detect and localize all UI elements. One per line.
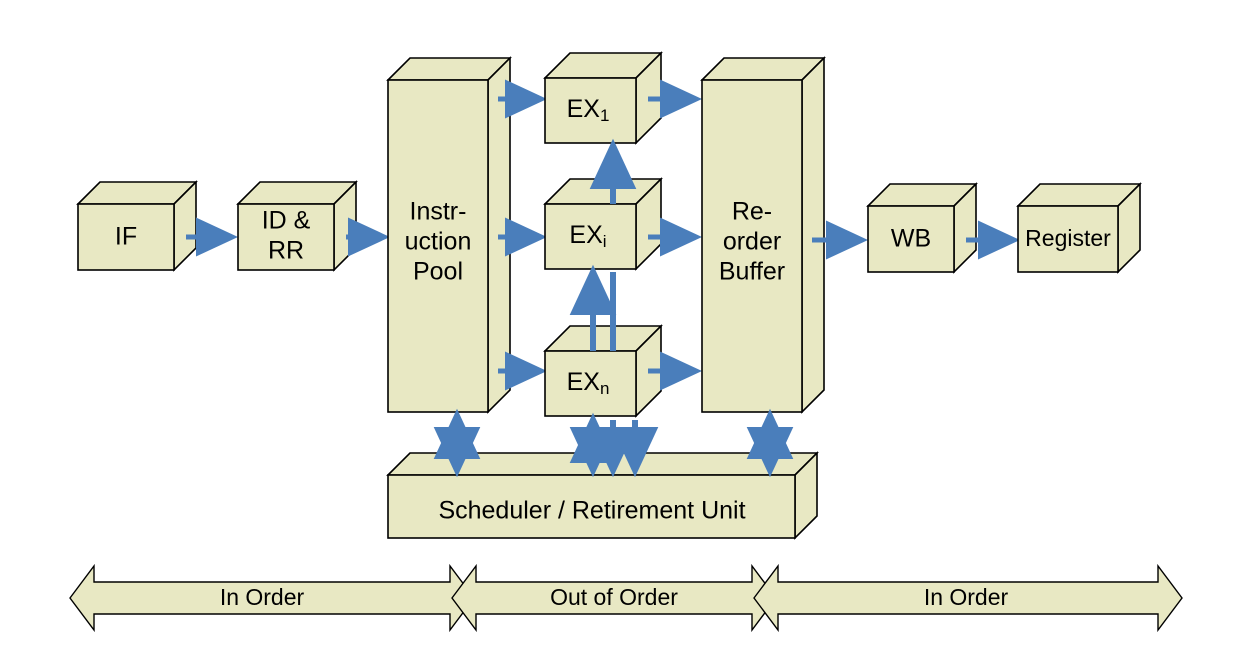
block-reorder-buffer[interactable]: Re- order Buffer <box>702 58 824 412</box>
exi-label: EXi <box>569 221 606 252</box>
register-label: Register <box>1025 225 1111 251</box>
block-instruction-pool[interactable]: Instr- uction Pool <box>388 58 510 412</box>
scheduler-top-face <box>388 453 817 475</box>
block-ex1[interactable]: EX1 <box>545 53 661 143</box>
pool-label-line1: Instr- <box>410 198 467 226</box>
banner-in-order-left: In Order <box>70 566 474 630</box>
idrr-label-line2: RR <box>268 237 304 265</box>
banner-right-label: In Order <box>924 584 1009 610</box>
banner-middle-label: Out of Order <box>550 584 678 610</box>
if-label: IF <box>115 223 137 251</box>
wb-label: WB <box>891 225 931 253</box>
rob-label-line2: order <box>723 228 781 256</box>
rob-label-line3: Buffer <box>719 258 785 286</box>
rob-side-face <box>802 58 824 412</box>
block-id-rr[interactable]: ID & RR <box>238 182 356 270</box>
block-if[interactable]: IF <box>78 182 196 270</box>
banner-in-order-right: In Order <box>754 566 1182 630</box>
pipeline-diagram: IF ID & RR Instr- uction Pool EX1 <box>0 0 1249 661</box>
block-wb[interactable]: WB <box>868 184 976 272</box>
block-exn[interactable]: EXn <box>545 326 661 416</box>
diagram-canvas: IF ID & RR Instr- uction Pool EX1 <box>0 0 1249 661</box>
banner-left-label: In Order <box>220 584 305 610</box>
banner-out-of-order: Out of Order <box>452 566 776 630</box>
block-scheduler[interactable]: Scheduler / Retirement Unit <box>388 453 817 538</box>
scheduler-label: Scheduler / Retirement Unit <box>438 497 745 525</box>
idrr-label-line1: ID & <box>262 207 311 235</box>
pool-label-line3: Pool <box>413 258 463 286</box>
block-register[interactable]: Register <box>1018 184 1140 272</box>
rob-label-line1: Re- <box>732 198 772 226</box>
pool-label-line2: uction <box>405 228 472 256</box>
block-exi[interactable]: EXi <box>545 179 661 269</box>
